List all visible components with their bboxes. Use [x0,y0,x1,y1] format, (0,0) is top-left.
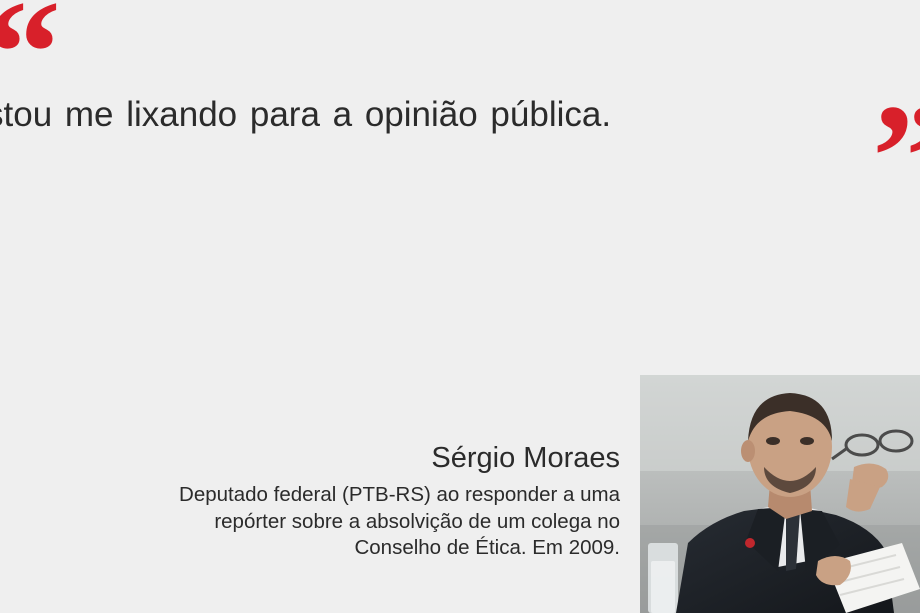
attribution-description-line: repórter sobre a absolvição de um colega… [160,509,620,536]
attribution-name: Sérgio Moraes [160,440,620,476]
quote-slide: “ ” stou me lixando para a opinião públi… [0,0,920,613]
quote-text: stou me lixando para a opinião pública. [0,92,746,138]
attribution-description: Deputado federal (PTB-RS) ao responder a… [160,482,620,562]
attribution: Sérgio Moraes Deputado federal (PTB-RS) … [160,440,620,562]
portrait-photo [640,375,920,613]
attribution-description-line: Deputado federal (PTB-RS) ao responder a… [160,482,620,509]
attribution-description-line: Conselho de Ética. Em 2009. [160,535,620,562]
quote-open-icon: “ [0,8,46,98]
quote-close-icon: ” [872,112,920,202]
portrait-illustration [640,375,920,613]
